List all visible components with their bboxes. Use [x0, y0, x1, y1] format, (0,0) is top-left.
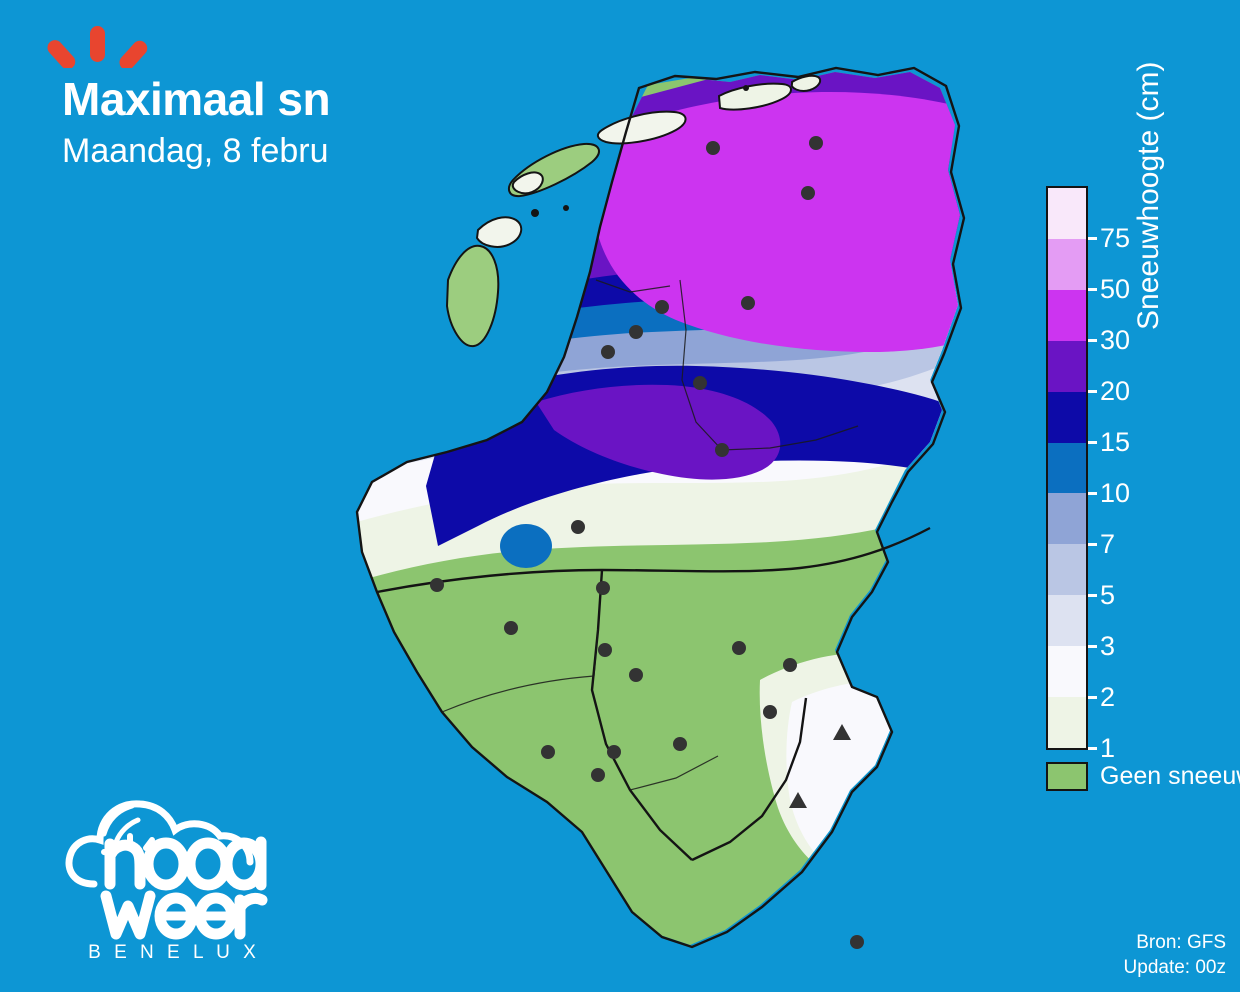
tick-label: 50 [1100, 276, 1130, 303]
no-snow-swatch [1046, 762, 1088, 791]
colorbar-band-5 [1048, 544, 1086, 595]
tick-dash [1088, 288, 1097, 291]
tick-label: 3 [1100, 633, 1115, 660]
tick-label: 1 [1100, 735, 1115, 762]
source-line: Bron: GFS [1124, 930, 1226, 955]
colorbar-band-30 [1048, 290, 1086, 341]
colorbar-band-75 [1048, 188, 1086, 239]
legend-no-snow: Geen sneeuw [1046, 762, 1240, 791]
colorbar-band-2 [1048, 646, 1086, 697]
colorbar-band-7 [1048, 493, 1086, 544]
tick-dash [1088, 747, 1097, 750]
tick-label: 75 [1100, 225, 1130, 252]
tick-dash [1088, 441, 1097, 444]
colorbar-band-3 [1048, 595, 1086, 646]
tick-dash [1088, 339, 1097, 342]
tick-dash [1088, 492, 1097, 495]
sunburst-icon [38, 22, 158, 68]
tick-label: 5 [1100, 582, 1115, 609]
colorbar[interactable] [1046, 186, 1088, 750]
tick-dash [1088, 237, 1097, 240]
colorbar-axis-label: Sneeuwhoogte (cm) [1132, 62, 1166, 330]
tick-dash [1088, 696, 1097, 699]
tick-dash [1088, 645, 1097, 648]
tick-dash [1088, 594, 1097, 597]
tick-label: 30 [1100, 327, 1130, 354]
tick-label: 7 [1100, 531, 1115, 558]
update-line: Update: 00z [1124, 955, 1226, 980]
tick-dash [1088, 390, 1097, 393]
map-canvas: Maximaal sneeuwdek Maandag, 8 februari 2… [0, 0, 1240, 992]
noodweer-benelux-logo: B E N E L U X [58, 784, 288, 964]
map-graphic [330, 30, 1030, 970]
tick-label: 20 [1100, 378, 1130, 405]
no-snow-label: Geen sneeuw [1100, 762, 1240, 791]
colorbar-band-10 [1048, 443, 1086, 494]
tick-label: 10 [1100, 480, 1130, 507]
colorbar-band-15 [1048, 392, 1086, 443]
tick-dash [1088, 543, 1097, 546]
tick-label: 2 [1100, 684, 1115, 711]
snow-depth-map [330, 30, 1030, 970]
colorbar-band-50 [1048, 239, 1086, 290]
colorbar-band-1 [1048, 697, 1086, 748]
logo-benelux-text: B E N E L U X [88, 942, 260, 963]
source-info: Bron: GFS Update: 00z [1124, 930, 1226, 980]
tick-label: 15 [1100, 429, 1130, 456]
colorbar-band-20 [1048, 341, 1086, 392]
legend-colorbar[interactable]: 75503020151075321 [1046, 186, 1088, 750]
